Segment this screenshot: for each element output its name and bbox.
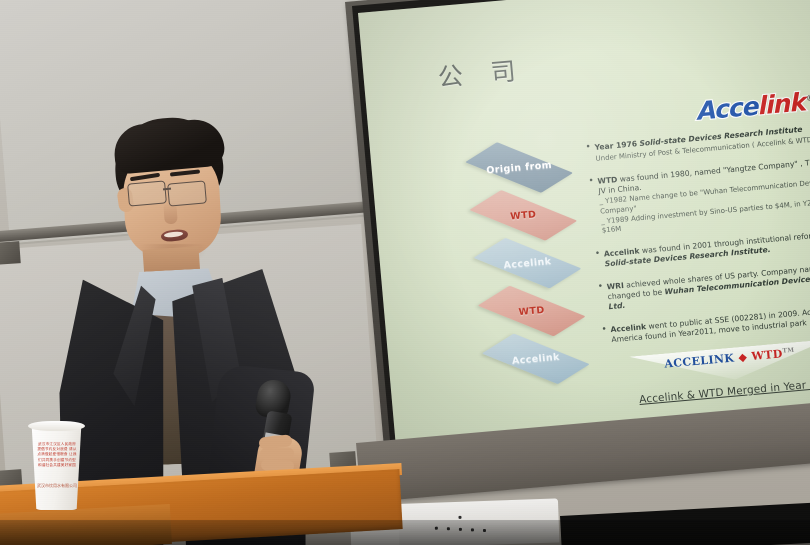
bullet-prefix: Year 1976 [594, 139, 637, 152]
bullet-item: WTD was found in 1980, named "Yangtze Co… [588, 156, 810, 238]
bullet-item: Accelink went to public at SSE (002281) … [601, 304, 810, 346]
glasses-lens-left [127, 180, 167, 206]
slide-title: 公 司 [436, 51, 527, 95]
presenter-hair-front [112, 117, 226, 174]
merged-logo-dot-icon: ◆ [738, 350, 748, 364]
bullet-item: Accelink was found in 2001 through insti… [595, 228, 810, 270]
merge-caption: Accelink & WTD Merged in Year 2012 [630, 376, 810, 407]
merged-logo-tm: TM [782, 347, 794, 355]
paper-cup-brand: 武汉市饮用水有限公司 [36, 483, 78, 489]
paper-cup-rim [28, 421, 85, 431]
bullet-main-line: Accelink was found in 2001 through insti… [604, 228, 810, 269]
rhombus-stack-diagram: Origin from WTD Accelink WTD Accelink [457, 129, 598, 389]
foreground-shadow [0, 520, 810, 545]
stack-plate: Accelink [474, 321, 597, 397]
bullet-item: WRI achieved whole shares of US party. C… [597, 261, 810, 313]
accelink-logo-part-b: link [759, 87, 807, 120]
presenter-nose [163, 202, 178, 225]
bullet-prefix: WRI [606, 281, 624, 291]
plate-label: WTD [518, 304, 545, 317]
conference-room-photo: 公 司 Accelink® Origin from WTD Accelink W… [0, 0, 810, 545]
merged-logo-right: WTD [751, 347, 783, 363]
paper-cup-text: 武汉市江汉区人民政府 提倡节约反对浪费 请从点滴做起爱惜粮食 让我们共同携手创建… [37, 442, 77, 468]
accelink-logo: Accelink® [698, 87, 810, 126]
accelink-logo-tm: ® [806, 93, 810, 103]
plate-label: WTD [510, 209, 537, 222]
bullet-prefix: WTD [597, 175, 618, 186]
bullet-item: Year 1976 Solid-state Devices Research I… [585, 122, 810, 164]
bullet-main-line: WRI achieved whole shares of US party. C… [606, 261, 810, 312]
slide-bullet-list: Year 1976 Solid-state Devices Research I… [585, 122, 810, 359]
whiteboard-corner-top-left [0, 241, 21, 265]
accelink-logo-part-a: Acce [698, 91, 759, 125]
presenter-finger [260, 447, 294, 459]
bullet-main-line: Accelink went to public at SSE (002281) … [610, 304, 810, 345]
